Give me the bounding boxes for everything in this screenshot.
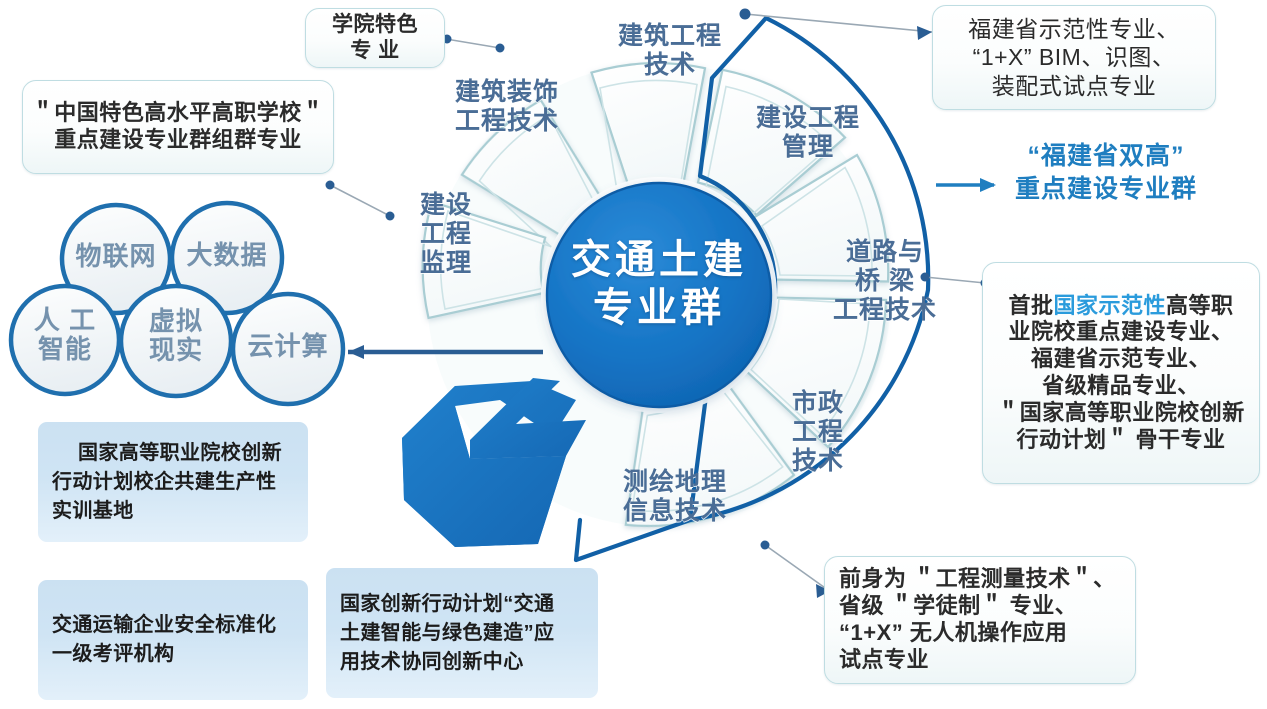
callout-line: 福建省示范性专业、	[933, 15, 1215, 43]
callout-line: 学院特色	[306, 12, 444, 38]
tech-bubble-cluster	[11, 203, 343, 404]
callout-china-high-level[interactable]: ＂中国特色高水平高职学校＂ 重点建设专业群组群专业	[22, 80, 334, 174]
petal-line: 市政	[772, 389, 864, 418]
callout-line: 首批国家示范性高等职	[983, 293, 1259, 320]
tech-label-cloud: 云计算	[233, 332, 343, 361]
callout-line: ＂国家高等职业院校创新	[983, 400, 1259, 427]
annotation-fujian-shuanggao: “福建省双高” 重点建设专业群	[988, 140, 1224, 205]
infobox-line: 国家高等职业院校创新	[52, 439, 294, 468]
annotation-line: “福建省双高”	[988, 140, 1224, 173]
hub-title-line2: 专业群	[559, 284, 759, 332]
tech-label-iot: 物联网	[61, 242, 171, 271]
petal-line: 工程	[400, 220, 492, 249]
tech-line: 智能	[11, 335, 119, 364]
petal-label-architectural-decoration: 建筑装饰 工程技术	[422, 78, 592, 136]
hub-title-line1: 交通土建	[559, 236, 759, 284]
infobox-line: 土建智能与绿色建造”应	[340, 619, 584, 648]
infobox-safety-evaluation[interactable]: 交通运输企业安全标准化 一级考评机构	[38, 580, 308, 700]
petal-line: 建筑装饰	[422, 78, 592, 107]
petal-line: 工程技术	[800, 296, 970, 325]
petal-label-architectural-engineering: 建筑工程 技术	[590, 22, 750, 80]
petal-line: 建筑工程	[590, 22, 750, 51]
tech-line: 物联网	[61, 242, 171, 271]
text-pre: 首批	[1008, 293, 1053, 318]
infobox-line: 实训基地	[52, 497, 294, 526]
callout-line: 试点专业	[839, 647, 1135, 674]
infobox-line: 交通运输企业安全标准化	[52, 611, 294, 640]
tech-line: 现实	[122, 336, 230, 365]
callout-fujian-demo[interactable]: 福建省示范性专业、 “1+X” BIM、识图、 装配式试点专业	[932, 5, 1216, 110]
petal-line: 道路与	[800, 238, 970, 267]
infobox-innovation-center[interactable]: 国家创新行动计划“交通 土建智能与绿色建造”应 用技术协同创新中心	[326, 568, 598, 698]
tech-line: 云计算	[233, 332, 343, 361]
tech-label-ai: 人 工 智能	[11, 306, 119, 363]
infobox-training-base[interactable]: 国家高等职业院校创新 行动计划校企共建生产性 实训基地	[38, 422, 308, 542]
infobox-line: 行动计划校企共建生产性	[52, 468, 294, 497]
infobox-line: 国家创新行动计划“交通	[340, 590, 584, 619]
callout-line: 装配式试点专业	[933, 72, 1215, 100]
petal-line: 信息技术	[595, 497, 755, 526]
callout-college-specialty[interactable]: 学院特色 专 业	[305, 8, 445, 68]
callout-line: “1+X” 无人机操作应用	[839, 620, 1135, 647]
petal-label-municipal-engineering: 市政 工程 技术	[772, 389, 864, 476]
callout-line: 福建省示范专业、	[983, 346, 1259, 373]
tech-line: 大数据	[172, 241, 282, 270]
callout-line: 专 业	[306, 38, 444, 64]
petal-line: 监理	[400, 249, 492, 278]
text-highlight: 国家示范性	[1053, 293, 1166, 318]
tech-line: 虚拟	[122, 307, 230, 336]
petal-line: 技术	[590, 51, 750, 80]
hub-title: 交通土建 专业群	[559, 236, 759, 332]
callout-national-demo[interactable]: 首批国家示范性高等职 业院校重点建设专业、 福建省示范专业、 省级精品专业、 ＂…	[982, 262, 1260, 484]
shuanggao-arrow	[936, 178, 996, 192]
petal-line: 测绘地理	[595, 468, 755, 497]
callout-line: 省级 ＂学徒制＂ 专业、	[839, 593, 1135, 620]
callout-line: 前身为 ＂工程测量技术＂、	[839, 566, 1135, 593]
tech-label-big-data: 大数据	[172, 241, 282, 270]
tech-label-vr: 虚拟 现实	[122, 307, 230, 364]
callout-line: 行动计划＂ 骨干专业	[983, 427, 1259, 454]
callout-line: ＂中国特色高水平高职学校＂	[23, 100, 333, 127]
callout-former-name[interactable]: 前身为 ＂工程测量技术＂、 省级 ＂学徒制＂ 专业、 “1+X” 无人机操作应用…	[824, 556, 1136, 684]
infobox-line: 一级考评机构	[52, 640, 294, 669]
tech-line: 人 工	[11, 306, 119, 335]
infobox-line: 用技术协同创新中心	[340, 648, 584, 677]
petal-label-construction-management: 建设工程 管理	[728, 104, 888, 162]
callout-line: 重点建设专业群组群专业	[23, 127, 333, 154]
petal-label-surveying-gis: 测绘地理 信息技术	[595, 468, 755, 526]
petal-line: 桥 梁	[800, 267, 970, 296]
petal-line: 技术	[772, 447, 864, 476]
petal-label-road-bridge: 道路与 桥 梁 工程技术	[800, 238, 970, 325]
callout-line: 省级精品专业、	[983, 373, 1259, 400]
petal-line: 建设	[400, 191, 492, 220]
diagram-canvas: 交通土建 专业群 建筑装饰 工程技术 建筑工程 技术 建设 工程 监理 建设工程…	[0, 0, 1267, 709]
petal-label-construction-supervision: 建设 工程 监理	[400, 191, 492, 278]
callout-line: “1+X” BIM、识图、	[933, 43, 1215, 71]
petal-line: 管理	[728, 133, 888, 162]
text-post: 高等职	[1166, 293, 1234, 318]
petal-line: 工程技术	[422, 107, 592, 136]
petal-line: 工程	[772, 418, 864, 447]
callout-line: 业院校重点建设专业、	[983, 319, 1259, 346]
annotation-line: 重点建设专业群	[988, 173, 1224, 206]
petal-line: 建设工程	[728, 104, 888, 133]
